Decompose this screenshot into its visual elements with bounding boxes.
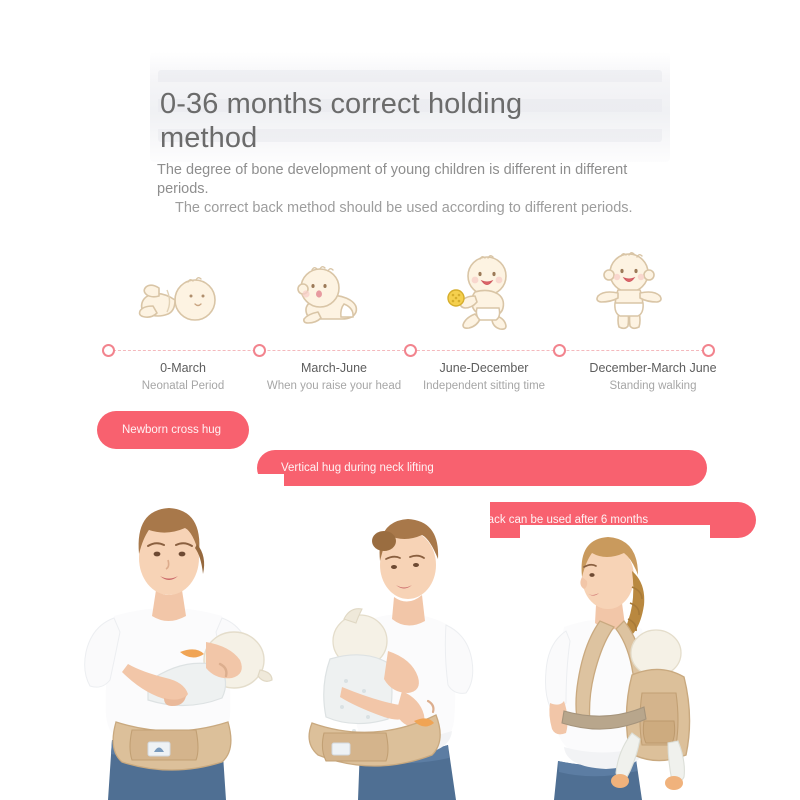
baby-illustration-row [100, 246, 720, 330]
infographic-page: 0-36 months correct holding method The d… [0, 0, 800, 800]
timeline-node-5[interactable] [702, 344, 715, 357]
callout-label: Vertical hug during neck lifting [281, 461, 434, 475]
intro-line-1: The degree of bone development of young … [157, 162, 627, 197]
callout-vertical-hug-neck-lifting[interactable]: Vertical hug during neck lifting [257, 450, 707, 486]
timeline-label-row: 0-March Neonatal Period March-June When … [100, 360, 720, 400]
callout-label: Newborn cross hug [122, 423, 221, 437]
baby-crawling-head-up-icon [266, 246, 396, 330]
baby-lying-down-icon [116, 246, 246, 330]
photo-vertical-hold [302, 495, 490, 800]
timeline-period: June-December [389, 360, 579, 376]
timeline-period: December-March June [558, 360, 748, 376]
timeline-node-3[interactable] [404, 344, 417, 357]
baby-sitting-with-rattle-icon [416, 246, 546, 330]
baby-standing-arms-out-icon [564, 246, 694, 330]
timeline-stage: Independent sitting time [389, 378, 579, 394]
intro-paragraph: The degree of bone development of young … [157, 161, 649, 218]
timeline-stage: Standing walking [558, 378, 748, 394]
timeline-node-1[interactable] [102, 344, 115, 357]
photo-cradle-hold [52, 474, 284, 800]
timeline-axis [100, 344, 712, 358]
timeline-node-2[interactable] [253, 344, 266, 357]
intro-line-2: The correct back method should be used a… [157, 199, 649, 218]
photo-back-carry [520, 525, 710, 800]
callout-newborn-cross-hug[interactable]: Newborn cross hug [97, 411, 249, 449]
timeline-node-4[interactable] [553, 344, 566, 357]
timeline-label-june-december: June-December Independent sitting time [389, 360, 579, 394]
timeline-label-december-march-june: December-March June Standing walking [558, 360, 748, 394]
page-title: 0-36 months correct holding method [160, 87, 580, 155]
